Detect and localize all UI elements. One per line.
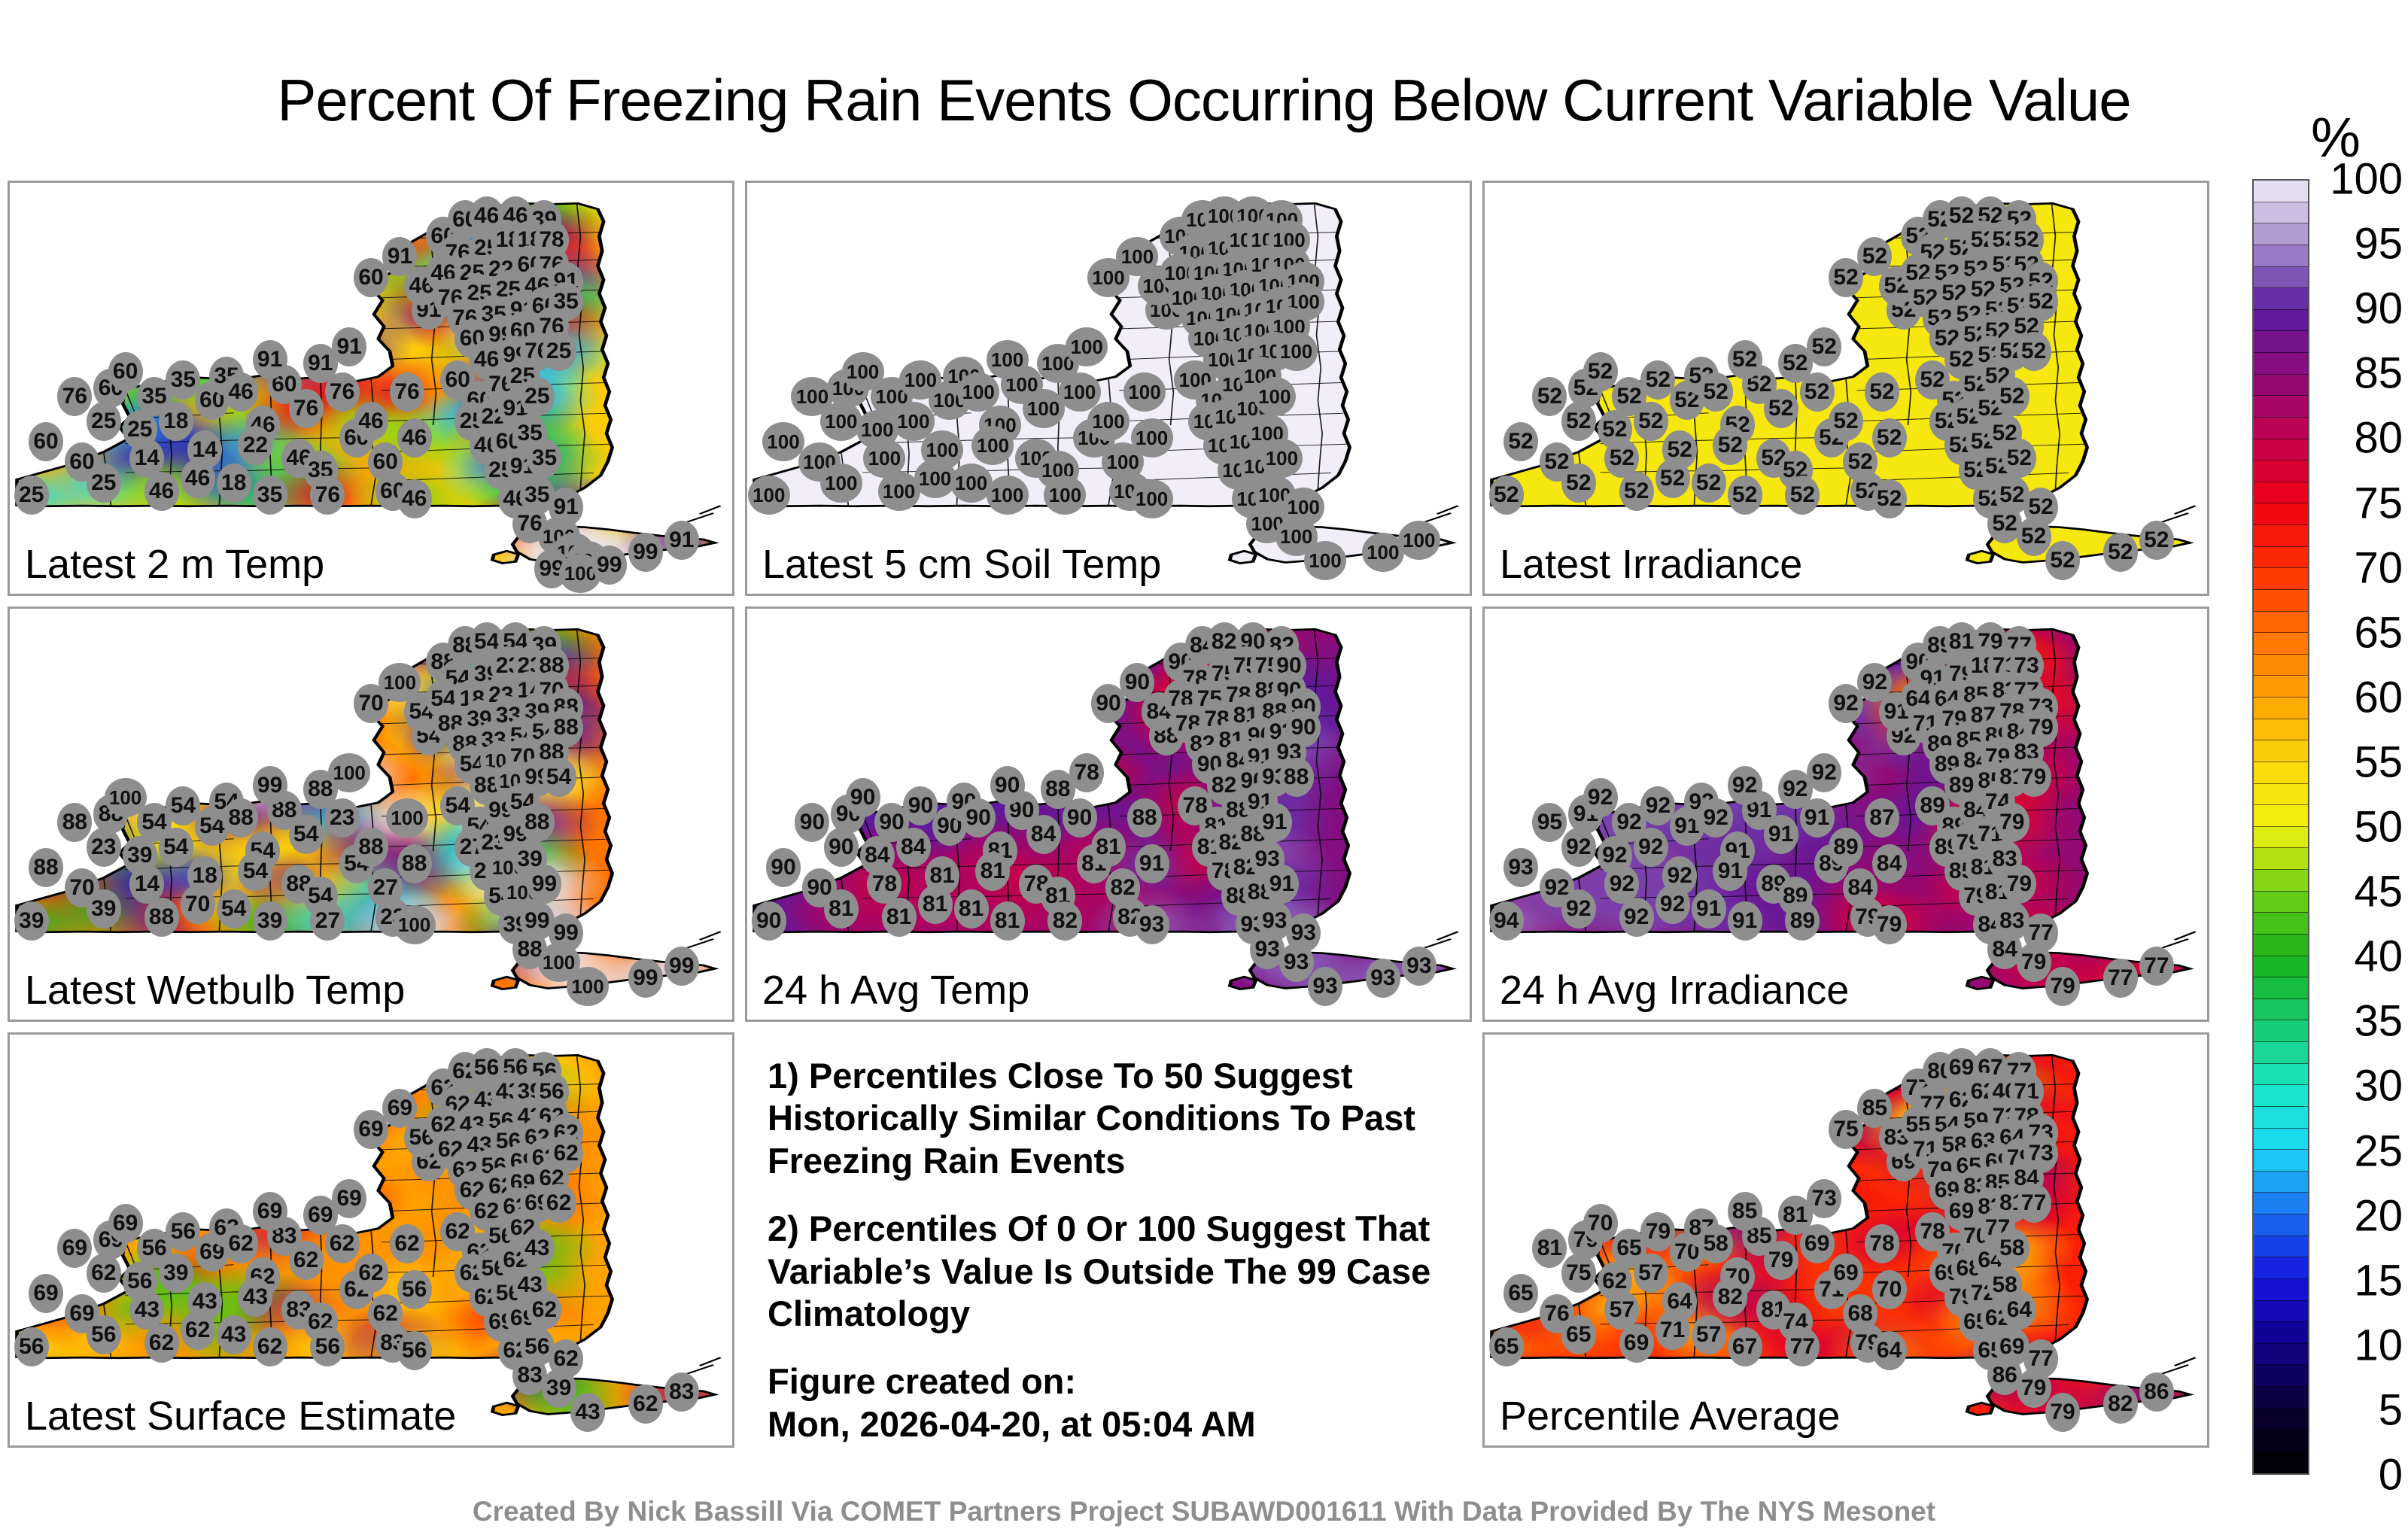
- note-1: 1) Percentiles Close To 50 Suggest Histo…: [768, 1055, 1460, 1182]
- station-marker: 52: [1728, 340, 1762, 379]
- station-marker: 46: [397, 479, 432, 518]
- station-marker: 22: [238, 426, 272, 465]
- station-marker: 43: [187, 1282, 222, 1321]
- station-marker: 79: [2045, 967, 2080, 1006]
- station-marker: 88: [520, 803, 555, 842]
- colorbar-band: [2254, 1430, 2308, 1451]
- station-marker: 75: [1561, 1254, 1596, 1293]
- station-marker: 91: [1135, 844, 1169, 883]
- colorbar-band: [2254, 590, 2308, 612]
- station-marker: 62: [223, 1224, 258, 1263]
- station-marker: 90: [1063, 798, 1097, 837]
- colorbar-tick: 40: [2354, 932, 2403, 982]
- station-marker: 100: [1131, 418, 1173, 457]
- station-marker: 100: [762, 422, 804, 461]
- colorbar-band: [2254, 956, 2308, 978]
- station-marker: 77: [2103, 959, 2138, 998]
- station-marker: 76: [390, 372, 424, 412]
- colorbar-tick: 30: [2354, 1061, 2403, 1111]
- colorbar-tick: 55: [2354, 737, 2403, 787]
- panel-title: Latest Irradiance: [1500, 541, 1802, 588]
- station-marker: 56: [397, 1331, 432, 1370]
- panel-24h-avg-irradiance[interactable]: 9492939295919292929292929292929291929192…: [1482, 606, 2209, 1022]
- colorbar-band: [2254, 1172, 2308, 1193]
- station-marker: 100: [567, 967, 609, 1006]
- station-marker: 81: [824, 889, 859, 929]
- colorbar-band: [2254, 892, 2308, 913]
- station-marker: 43: [238, 1278, 272, 1317]
- colorbar-gradient: [2252, 179, 2309, 1475]
- panel-latest-surface-estimate[interactable]: 5669696269695656695643623956624369624362…: [8, 1032, 734, 1448]
- colorbar-band: [2254, 999, 2308, 1021]
- station-marker: 91: [332, 327, 366, 366]
- station-marker: 56: [310, 1327, 345, 1366]
- panel-title: 24 h Avg Temp: [762, 967, 1029, 1014]
- colorbar-band: [2254, 784, 2308, 806]
- colorbar-band: [2254, 1279, 2308, 1301]
- station-marker: 14: [187, 430, 222, 470]
- station-marker: 100: [1254, 377, 1296, 416]
- station-marker: 91: [664, 521, 699, 560]
- colorbar-band: [2254, 503, 2308, 525]
- station-marker: 87: [1865, 798, 1899, 837]
- station-marker: 52: [1503, 422, 1538, 461]
- colorbar-band: [2254, 762, 2308, 784]
- station-marker: 100: [1131, 479, 1173, 518]
- station-marker: 81: [1091, 828, 1126, 867]
- station-marker: 52: [1713, 426, 1747, 465]
- map-area: 5252525252525252525252525252525252525252…: [1485, 183, 2207, 594]
- station-marker: 46: [354, 402, 388, 441]
- station-marker: 52: [2045, 541, 2080, 580]
- station-marker: 89: [1829, 828, 1863, 867]
- station-marker: 52: [1561, 402, 1596, 441]
- station-marker: 62: [628, 1385, 663, 1424]
- panel-percentile-average[interactable]: 6576657581796562706557695779716470875758…: [1482, 1032, 2209, 1448]
- station-marker: 77: [2139, 947, 2174, 986]
- station-marker: 69: [57, 1229, 92, 1268]
- station-marker: 93: [1366, 959, 1400, 998]
- station-marker: 99: [592, 546, 627, 585]
- station-marker: 79: [1995, 803, 2029, 842]
- station-marker: 69: [1619, 1324, 1654, 1363]
- station-marker: 52: [1995, 377, 2029, 416]
- colorbar-band: [2254, 245, 2308, 267]
- station-marker: 23: [325, 798, 360, 837]
- station-marker: 91: [1264, 865, 1299, 904]
- station-marker: 88: [354, 828, 388, 867]
- station-marker: 73: [1807, 1179, 1841, 1218]
- station-marker: 91: [1728, 901, 1762, 941]
- colorbar-band: [2254, 655, 2308, 676]
- colorbar-band: [2254, 633, 2308, 655]
- colorbar-band: [2254, 460, 2308, 482]
- station-marker: 100: [1304, 541, 1346, 580]
- station-marker: 65: [1503, 1274, 1538, 1313]
- station-marker: 39: [87, 889, 121, 929]
- station-marker: 92: [1583, 778, 1618, 817]
- station-marker: 90: [824, 828, 859, 867]
- station-marker: 77: [2017, 1184, 2051, 1223]
- station-marker: 79: [2002, 865, 2036, 904]
- station-marker: 39: [253, 901, 287, 941]
- colorbar-band: [2254, 1344, 2308, 1366]
- figure-credit: Created By Nick Bassill Via COMET Partne…: [0, 1496, 2408, 1527]
- station-marker: 81: [1532, 1229, 1567, 1268]
- station-marker: 35: [253, 476, 287, 515]
- panel-24h-avg-temp[interactable]: 9090909090908184909078818490818190908190…: [745, 606, 1472, 1022]
- panel-title: Latest 5 cm Soil Temp: [762, 541, 1161, 588]
- station-marker: 93: [1135, 905, 1169, 944]
- station-marker: 62: [542, 1184, 576, 1223]
- station-marker: 86: [2139, 1372, 2174, 1412]
- station-marker: 52: [1872, 479, 1907, 518]
- colorbar-band: [2254, 612, 2308, 634]
- colorbar-band: [2254, 482, 2308, 504]
- station-marker: 69: [108, 1204, 143, 1243]
- station-marker: 46: [144, 472, 179, 511]
- station-marker: 54: [159, 828, 193, 867]
- station-marker: 81: [990, 901, 1025, 941]
- station-marker: 43: [217, 1315, 251, 1354]
- station-marker: 76: [57, 377, 92, 416]
- station-marker: 25: [542, 332, 576, 371]
- station-marker: 64: [1872, 1331, 1907, 1370]
- station-marker: 92: [1634, 828, 1668, 867]
- station-marker: 25: [87, 402, 121, 441]
- station-marker: 23: [87, 828, 121, 867]
- station-marker: 79: [1764, 1241, 1798, 1280]
- station-marker: 90: [990, 766, 1025, 805]
- colorbar-band: [2254, 1107, 2308, 1129]
- colorbar-tick: 95: [2354, 219, 2403, 269]
- colorbar-band: [2254, 1150, 2308, 1172]
- station-marker: 43: [570, 1393, 605, 1432]
- station-marker: 57: [1692, 1315, 1726, 1354]
- station-marker: 79: [2017, 1369, 2051, 1408]
- station-marker: 100: [971, 426, 1014, 465]
- colorbar-band: [2254, 223, 2308, 245]
- station-marker: 54: [238, 852, 272, 891]
- map-area: 9492939295919292929292929292929291929192…: [1485, 609, 2207, 1020]
- station-marker: 92: [1619, 898, 1654, 937]
- colorbar-band: [2254, 1257, 2308, 1279]
- station-marker: 100: [987, 340, 1029, 379]
- station-marker: 70: [1872, 1270, 1907, 1309]
- station-marker: 100: [1087, 402, 1130, 441]
- station-marker: 39: [159, 1254, 193, 1293]
- station-marker: 25: [14, 476, 49, 515]
- colorbar-tick: 25: [2354, 1126, 2403, 1176]
- station-marker: 91: [1800, 798, 1835, 837]
- panel-title: 24 h Avg Irradiance: [1500, 967, 1849, 1014]
- map-area: 2560602576602525603514461835461460351846…: [10, 183, 732, 594]
- station-marker: 100: [1066, 327, 1108, 366]
- station-marker: 52: [1865, 372, 1899, 412]
- station-marker: 90: [961, 798, 996, 837]
- station-marker: 92: [1561, 889, 1596, 929]
- station-marker: 81: [882, 898, 917, 937]
- station-marker: 92: [1728, 766, 1762, 805]
- station-marker: 52: [2139, 521, 2174, 560]
- map-area: 5669696269695656695643623956624369624362…: [10, 1035, 732, 1445]
- colorbar-band: [2254, 288, 2308, 310]
- station-marker: 91: [1692, 889, 1726, 929]
- colorbar-tick: 90: [2354, 284, 2403, 334]
- colorbar-band: [2254, 935, 2308, 956]
- station-marker: 82: [2103, 1385, 2138, 1424]
- station-marker: 57: [1634, 1254, 1668, 1293]
- station-marker: 100: [1275, 332, 1318, 371]
- station-marker: 52: [1785, 476, 1820, 515]
- station-marker: 100: [820, 464, 862, 503]
- station-marker: 91: [1713, 852, 1747, 891]
- station-marker: 81: [925, 856, 959, 895]
- station-marker: 84: [896, 828, 931, 867]
- colorbar-band: [2254, 396, 2308, 418]
- station-marker: 52: [1698, 372, 1733, 412]
- station-marker: 79: [1872, 905, 1907, 944]
- station-marker: 52: [2002, 439, 2036, 478]
- colorbar-band: [2254, 740, 2308, 762]
- station-marker: 62: [354, 1254, 388, 1293]
- colorbar-band: [2254, 1322, 2308, 1344]
- colorbar-tick: 80: [2354, 413, 2403, 464]
- station-marker: 78: [1069, 753, 1104, 792]
- colorbar-band: [2254, 310, 2308, 332]
- station-marker: 100: [921, 430, 963, 470]
- station-marker: 39: [14, 901, 49, 941]
- station-marker: 93: [1279, 943, 1314, 982]
- colorbar-band: [2254, 698, 2308, 719]
- station-marker: 84: [1026, 815, 1061, 854]
- panel-title: Percentile Average: [1500, 1393, 1840, 1439]
- colorbar-band: [2254, 805, 2308, 827]
- station-marker: 93: [1503, 848, 1538, 887]
- panel-latest-2m-temp[interactable]: 2560602576602525603514461835461460351846…: [8, 181, 734, 596]
- colorbar-band: [2254, 977, 2308, 999]
- colorbar-band: [2254, 1214, 2308, 1236]
- map-area: 3970882388883939100541488545470185454548…: [10, 609, 732, 1020]
- station-marker: 100: [987, 476, 1029, 515]
- colorbar-band: [2254, 676, 2308, 698]
- colorbar-band: [2254, 1129, 2308, 1150]
- station-marker: 52: [2017, 332, 2051, 371]
- station-marker: 91: [1257, 803, 1292, 842]
- colorbar-band: [2254, 353, 2308, 375]
- station-marker: 64: [1662, 1282, 1697, 1321]
- station-marker: 100: [1260, 439, 1303, 478]
- colorbar-band: [2254, 525, 2308, 547]
- colorbar-tick: 100: [2330, 154, 2403, 205]
- colorbar-tick: 70: [2354, 543, 2403, 593]
- station-marker: 62: [527, 1290, 561, 1330]
- colorbar-band: [2254, 1085, 2308, 1107]
- station-marker: 52: [1561, 464, 1596, 503]
- station-marker: 62: [390, 1224, 424, 1263]
- station-marker: 52: [1800, 372, 1835, 412]
- station-marker: 85: [1728, 1192, 1762, 1231]
- station-marker: 25: [87, 464, 121, 503]
- created-on-value: Mon, 2026-04-20, at 05:04 AM: [768, 1403, 1460, 1445]
- station-marker: 43: [520, 1229, 555, 1268]
- station-marker: 56: [87, 1315, 121, 1354]
- station-marker: 52: [1829, 402, 1863, 441]
- station-marker: 69: [253, 1192, 287, 1231]
- colorbar-tick: 85: [2354, 348, 2403, 399]
- station-marker: 52: [2017, 517, 2051, 556]
- colorbar-band: [2254, 913, 2308, 935]
- colorbar-band: [2254, 547, 2308, 569]
- station-marker: 81: [975, 852, 1010, 891]
- station-marker: 92: [1698, 798, 1733, 837]
- station-marker: 100: [394, 905, 436, 944]
- station-marker: 88: [223, 798, 258, 837]
- colorbar-band: [2254, 1042, 2308, 1064]
- station-marker: 52: [1662, 430, 1697, 470]
- station-marker: 62: [289, 1241, 324, 1280]
- panel-latest-irradiance[interactable]: 5252525252525252525252525252525252525252…: [1482, 181, 2209, 596]
- station-marker: 84: [1872, 844, 1907, 883]
- colorbar-band: [2254, 1020, 2308, 1042]
- station-marker: 94: [1489, 901, 1524, 941]
- colorbar-band: [2254, 1451, 2308, 1473]
- colorbar-band: [2254, 331, 2308, 353]
- station-marker: 100: [748, 476, 790, 515]
- station-marker: 95: [1532, 803, 1567, 842]
- colorbar-band: [2254, 1301, 2308, 1323]
- colorbar-band: [2254, 827, 2308, 849]
- station-marker: 60: [29, 422, 63, 461]
- station-marker: 76: [325, 372, 360, 412]
- station-marker: 88: [144, 898, 179, 937]
- station-marker: 52: [1692, 464, 1726, 503]
- colorbar-tick: 50: [2354, 802, 2403, 853]
- station-marker: 82: [1713, 1278, 1747, 1317]
- colorbar-band: [2254, 181, 2308, 202]
- station-marker: 99: [527, 865, 561, 904]
- station-marker: 35: [527, 439, 561, 478]
- station-marker: 52: [1634, 402, 1668, 441]
- station-marker: 70: [1583, 1204, 1618, 1243]
- colorbar-tick-labels: 1009590858075706560555045403530252015105…: [2315, 179, 2406, 1475]
- station-marker: 93: [1308, 967, 1342, 1006]
- station-marker: 69: [1829, 1254, 1863, 1293]
- colorbar: % 10095908580757065605550454035302520151…: [2246, 98, 2408, 1475]
- colorbar-tick: 15: [2354, 1255, 2403, 1306]
- station-marker: 90: [846, 778, 880, 817]
- station-marker: 88: [29, 848, 63, 887]
- map-area: 9090909090908184909078818490818190908190…: [747, 609, 1470, 1020]
- colorbar-band: [2254, 1365, 2308, 1387]
- station-marker: 83: [664, 1372, 699, 1412]
- station-marker: 62: [144, 1324, 179, 1363]
- colorbar-tick: 0: [2379, 1450, 2403, 1500]
- colorbar-band: [2254, 1064, 2308, 1086]
- colorbar-band: [2254, 848, 2308, 870]
- explanatory-notes: 1) Percentiles Close To 50 Suggest Histo…: [768, 1055, 1460, 1451]
- colorbar-tick: 65: [2354, 607, 2403, 658]
- station-marker: 56: [14, 1327, 49, 1366]
- station-marker: 46: [223, 372, 258, 412]
- colorbar-tick: 10: [2354, 1320, 2403, 1370]
- station-marker: 100: [328, 753, 370, 792]
- note-2: 2) Percentiles Of 0 Or 100 Suggest That …: [768, 1208, 1460, 1335]
- station-marker: 88: [1127, 798, 1162, 837]
- colorbar-band: [2254, 439, 2308, 461]
- colorbar-band: [2254, 870, 2308, 892]
- station-marker: 90: [795, 803, 829, 842]
- panel-latest-wetbulb-temp[interactable]: 3970882388883939100541488545470185454548…: [8, 606, 734, 1022]
- colorbar-band: [2254, 568, 2308, 590]
- station-marker: 100: [1044, 476, 1086, 515]
- colorbar-tick: 35: [2354, 996, 2403, 1047]
- station-marker: 46: [397, 418, 432, 457]
- colorbar-band: [2254, 375, 2308, 397]
- created-on-label: Figure created on:: [768, 1360, 1460, 1403]
- station-marker: 79: [2017, 943, 2051, 982]
- station-marker: 65: [1489, 1327, 1524, 1366]
- station-marker: 60: [108, 352, 143, 391]
- station-marker: 54: [217, 889, 251, 929]
- colorbar-band: [2254, 267, 2308, 289]
- station-marker: 100: [1123, 372, 1166, 412]
- colorbar-tick: 5: [2379, 1385, 2403, 1435]
- station-marker: 52: [1489, 476, 1524, 515]
- station-marker: 91: [253, 340, 287, 379]
- station-marker: 69: [29, 1274, 63, 1313]
- panel-latest-5cm-soil-temp[interactable]: 1001001001001001001001001001001001001001…: [745, 181, 1472, 596]
- station-marker: 76: [289, 389, 324, 428]
- station-marker: 18: [217, 464, 251, 503]
- station-marker: 52: [1583, 352, 1618, 391]
- station-marker: 67: [1728, 1327, 1762, 1366]
- station-marker: 99: [664, 947, 699, 986]
- station-marker: 93: [1402, 947, 1437, 986]
- station-marker: 88: [57, 803, 92, 842]
- station-marker: 69: [332, 1179, 366, 1218]
- station-marker: 81: [954, 889, 989, 929]
- panel-title: Latest Surface Estimate: [25, 1393, 456, 1439]
- station-marker: 92: [1662, 856, 1697, 895]
- station-marker: 62: [325, 1224, 360, 1263]
- station-marker: 90: [766, 848, 801, 887]
- station-marker: 52: [1764, 389, 1798, 428]
- station-marker: 99: [628, 959, 663, 998]
- colorbar-tick: 75: [2354, 478, 2403, 528]
- station-marker: 52: [1728, 476, 1762, 515]
- station-marker: 100: [791, 377, 833, 416]
- panel-title: Latest Wetbulb Temp: [25, 967, 405, 1014]
- station-marker: 76: [310, 476, 345, 515]
- station-marker: 58: [1995, 1229, 2029, 1268]
- station-marker: 89: [1785, 901, 1820, 941]
- colorbar-band: [2254, 719, 2308, 741]
- figure-title: Percent Of Freezing Rain Events Occurrin…: [0, 66, 2408, 135]
- station-marker: 58: [1698, 1224, 1733, 1263]
- station-marker: 39: [542, 1369, 576, 1408]
- station-marker: 99: [628, 533, 663, 572]
- colorbar-band: [2254, 202, 2308, 224]
- station-marker: 64: [2002, 1290, 2036, 1330]
- colorbar-band: [2254, 1387, 2308, 1409]
- colorbar-tick: 20: [2354, 1190, 2403, 1241]
- colorbar-band: [2254, 1409, 2308, 1430]
- panel-title: Latest 2 m Temp: [25, 541, 324, 588]
- station-marker: 18: [187, 856, 222, 895]
- colorbar-band: [2254, 1236, 2308, 1258]
- station-marker: 18: [159, 402, 193, 441]
